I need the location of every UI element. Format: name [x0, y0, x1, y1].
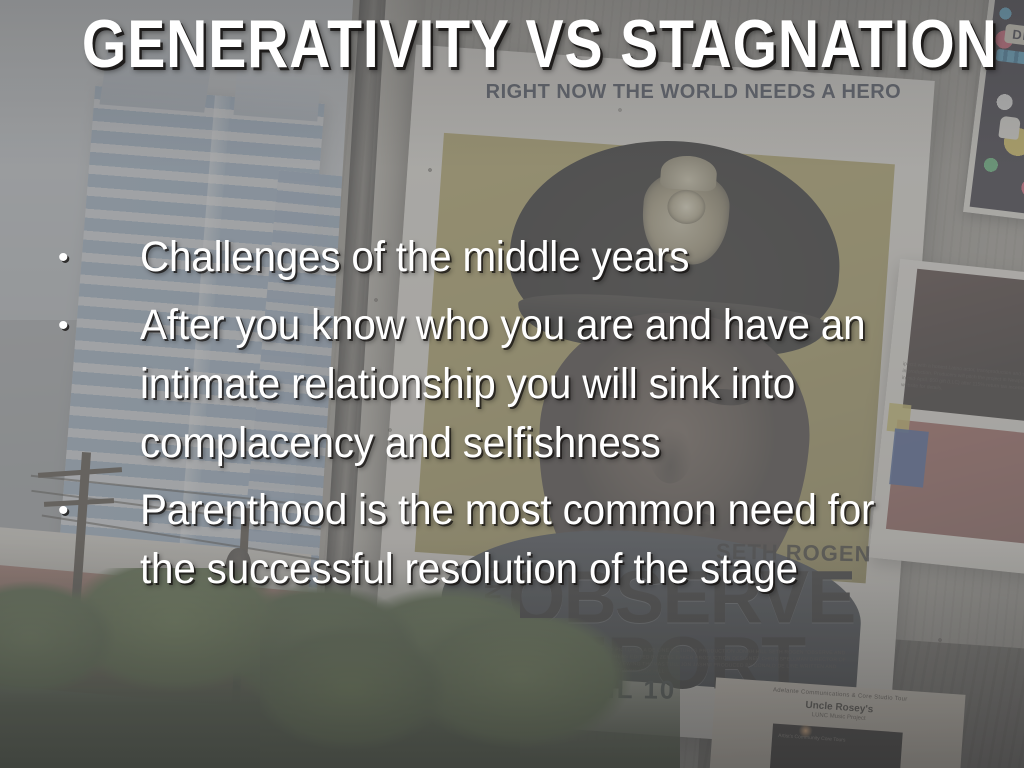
bullet-text: After you know who you are and have an i…	[140, 296, 930, 473]
list-item: • Challenges of the middle years	[44, 228, 984, 288]
list-item: • After you know who you are and have an…	[44, 296, 984, 473]
bullet-text: Parenthood is the most common need for t…	[140, 481, 930, 599]
bullet-marker-icon: •	[44, 481, 140, 541]
bullet-marker-icon: •	[44, 296, 140, 356]
bullet-text: Challenges of the middle years	[140, 228, 930, 287]
list-item: • Parenthood is the most common need for…	[44, 481, 984, 599]
bullet-list: • Challenges of the middle years • After…	[44, 228, 984, 607]
slide-title: Generativity vs Stagnation	[82, 4, 942, 84]
bullet-marker-icon: •	[44, 228, 140, 288]
presentation-slide: RIGHT NOW THE WORLD NEEDS A HERO SETH RO…	[0, 0, 1024, 768]
